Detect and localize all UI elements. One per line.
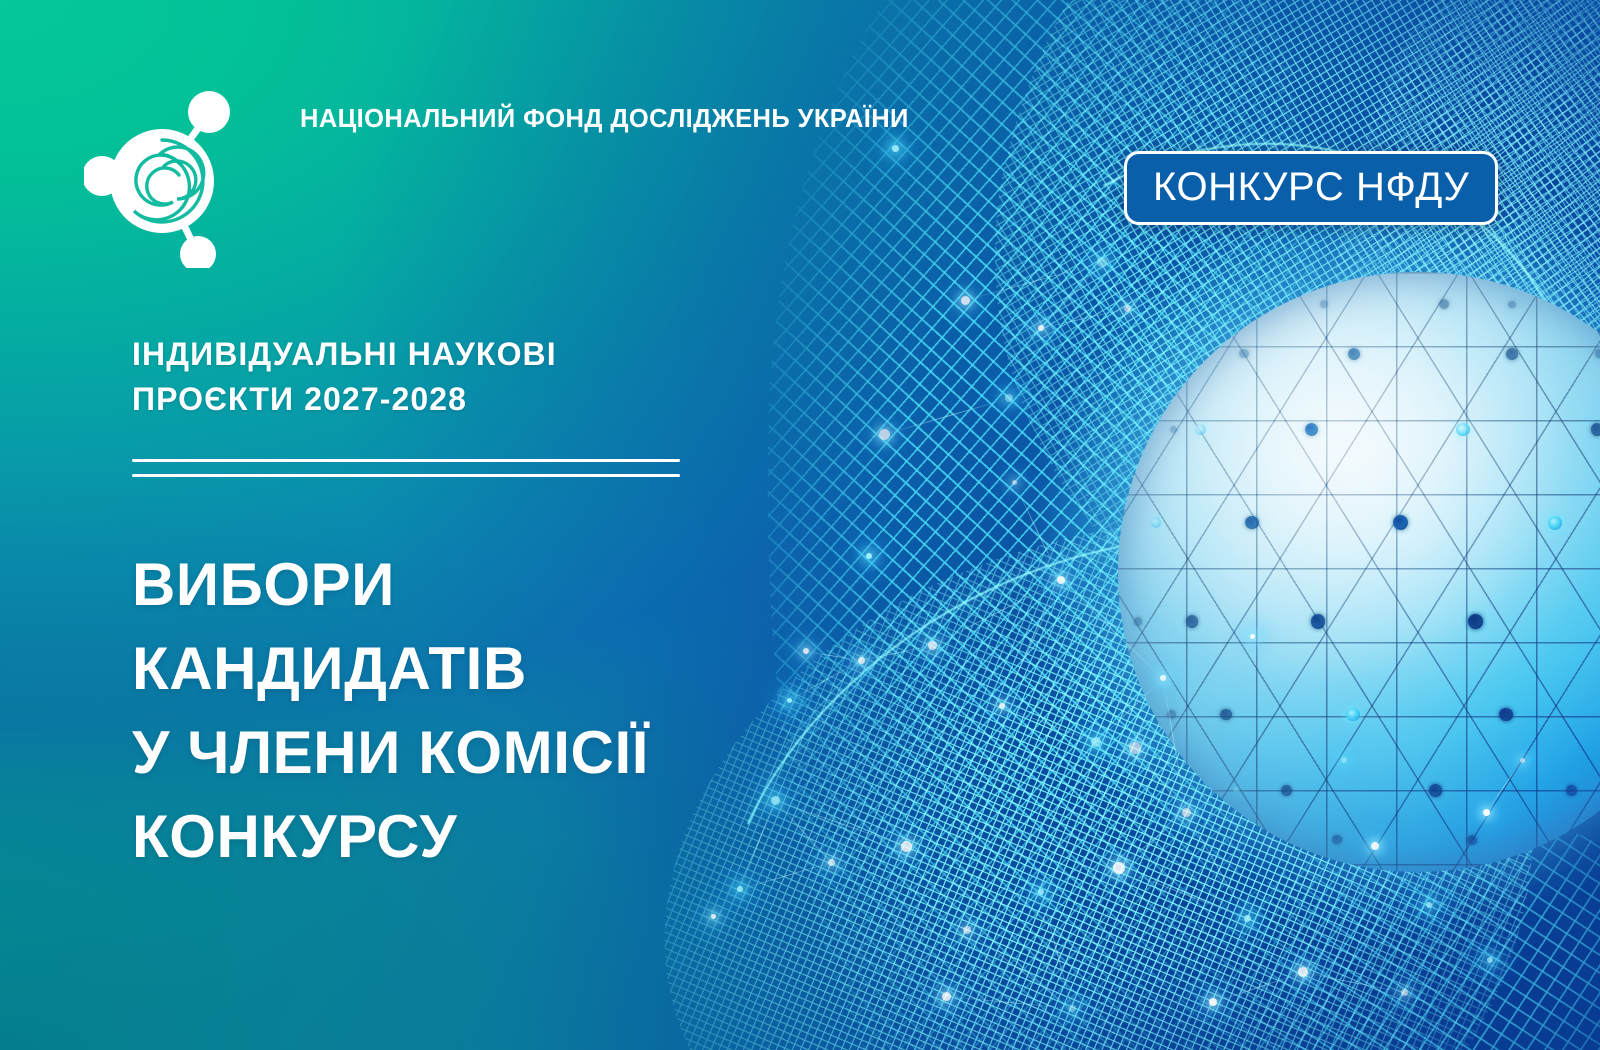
eyebrow-text: ІНДИВІДУАЛЬНІ НАУКОВІ ПРОЄКТИ 2027-2028	[132, 332, 557, 422]
particle-dot	[711, 914, 716, 919]
particle-dot	[1250, 634, 1255, 639]
nrfu-logo[interactable]: НАЦІОНАЛЬНИЙ ФОНД ДОСЛІДЖЕНЬ УКРАЇНИ	[84, 78, 504, 268]
wireframe-globe-network-icon	[1118, 272, 1600, 872]
particle-dot	[1487, 957, 1493, 963]
particle-dot	[1341, 757, 1347, 763]
molecule-spiral-icon	[84, 78, 244, 268]
promo-banner: НАЦІОНАЛЬНИЙ ФОНД ДОСЛІДЖЕНЬ УКРАЇНИ КОН…	[0, 0, 1600, 1050]
particle-dot	[1426, 902, 1432, 908]
particle-dot	[1371, 842, 1379, 850]
particle-dot	[892, 145, 899, 152]
page-title: ВИБОРИ КАНДИДАТІВ У ЧЛЕНИ КОМІСІЇ КОНКУР…	[132, 543, 649, 879]
divider-line-top	[132, 459, 680, 462]
nrfu-logo-text: НАЦІОНАЛЬНИЙ ФОНД ДОСЛІДЖЕНЬ УКРАЇНИ	[300, 104, 909, 135]
particle-dot	[866, 553, 872, 559]
konkurs-nfdu-badge[interactable]: КОНКУРС НФДУ	[1124, 151, 1498, 225]
divider-rules	[132, 459, 680, 477]
divider-line-bottom	[132, 474, 680, 477]
